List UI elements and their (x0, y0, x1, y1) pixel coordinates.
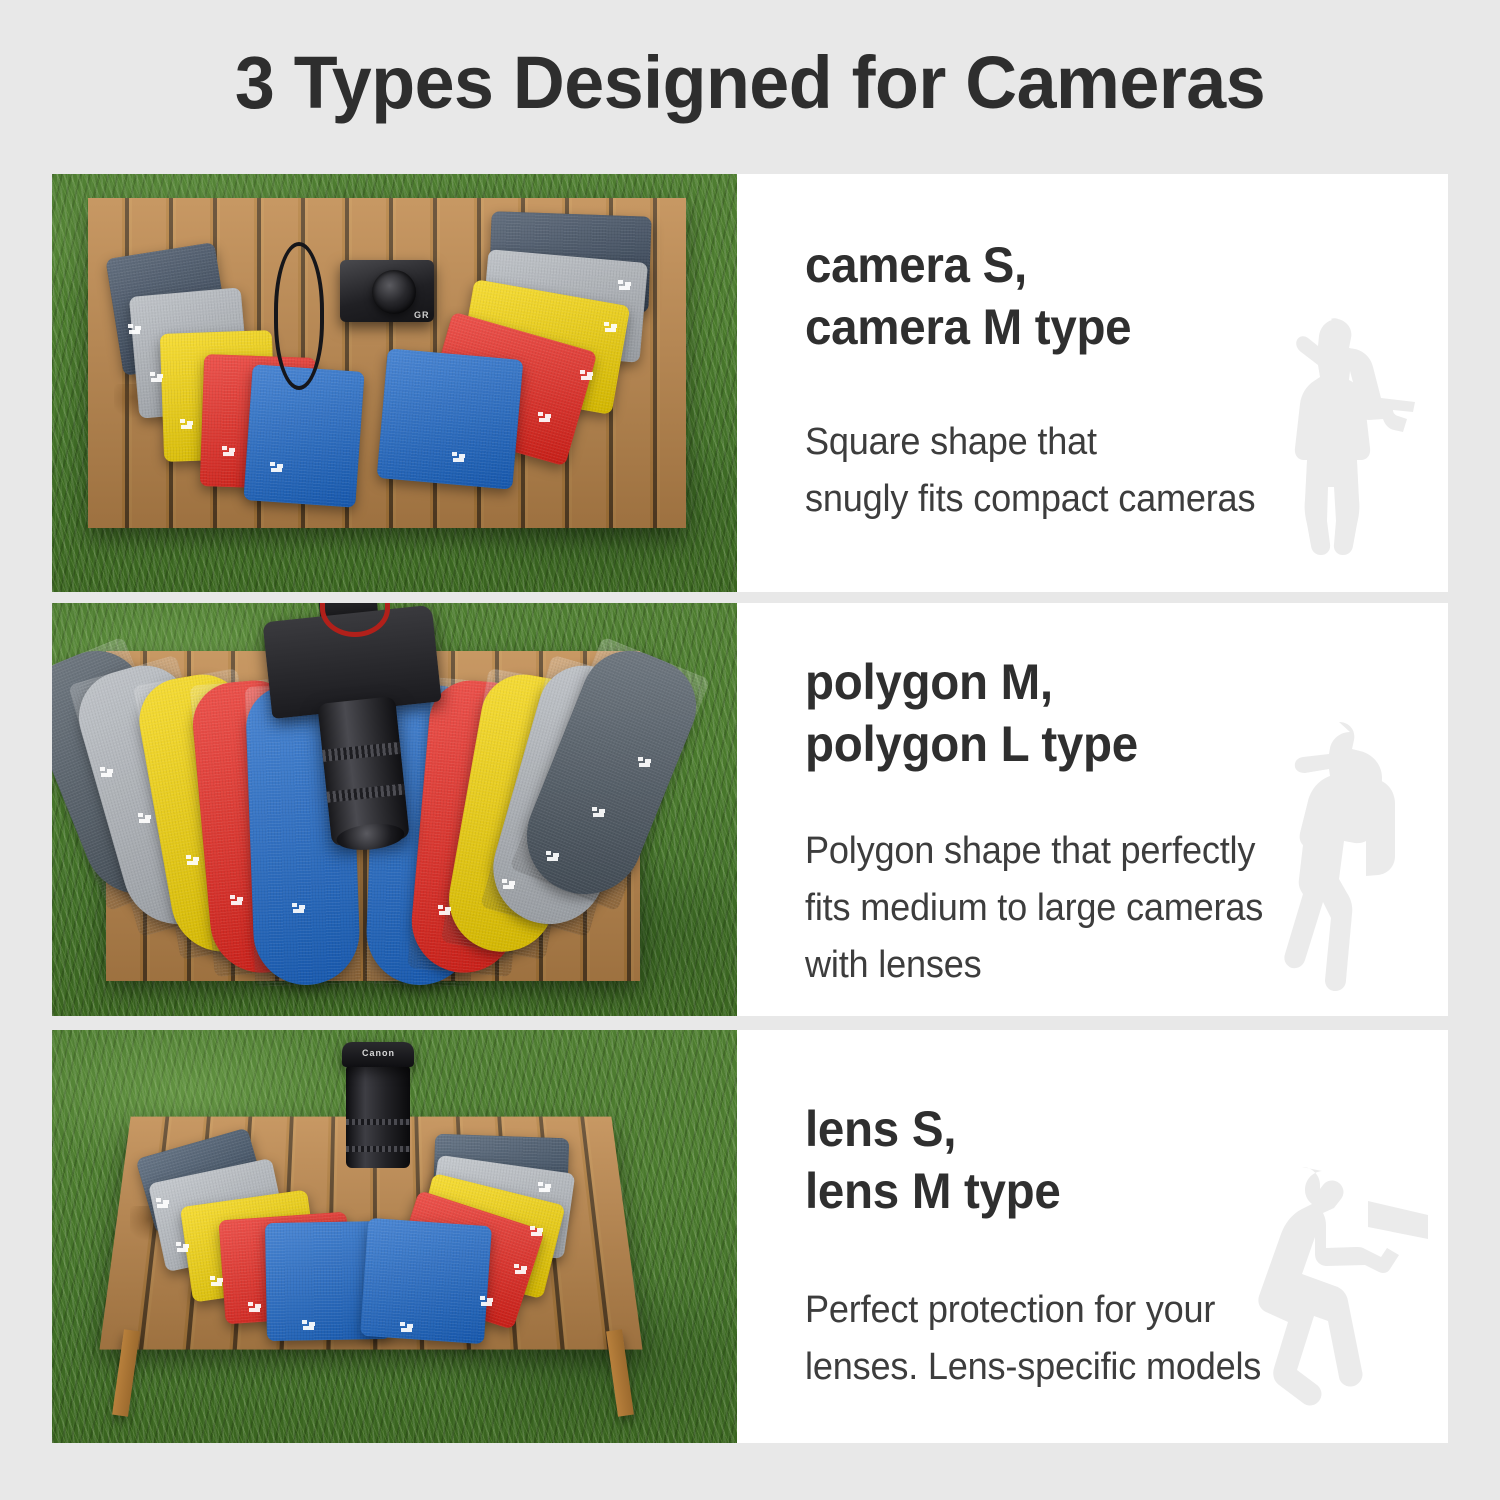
feature-heading: polygon M, polygon L type (805, 651, 1138, 775)
feature-text-polygon: polygon M, polygon L type Polygon shape … (737, 603, 1448, 1016)
brand-logo-icon (180, 419, 194, 430)
product-photo-camera-type: GR (52, 174, 737, 592)
brand-logo-icon (400, 1322, 414, 1333)
camera-lens-standing: Canon (342, 1042, 414, 1166)
camera-lens-barrel (317, 696, 410, 846)
product-photo-polygon-type (52, 603, 737, 1016)
brand-logo-icon (156, 1198, 170, 1209)
brand-logo-icon (538, 412, 552, 423)
feature-heading: camera S, camera M type (805, 234, 1131, 358)
brand-logo-icon (128, 324, 142, 335)
brand-logo-icon (100, 767, 114, 778)
brand-logo-icon (248, 1302, 262, 1313)
brand-logo-icon (618, 280, 632, 291)
brand-logo-icon (604, 322, 618, 333)
pouch-blue-right (377, 348, 524, 489)
brand-logo-icon (530, 1226, 544, 1237)
brand-logo-icon (138, 813, 152, 824)
brand-logo-icon (230, 895, 244, 906)
brand-logo-icon (176, 1242, 190, 1253)
lens-zoom-ring (346, 1146, 409, 1152)
brand-logo-icon (438, 905, 452, 916)
camera-model-badge: GR (414, 310, 430, 320)
camera-wrist-strap (274, 242, 324, 390)
page-title: 3 Types Designed for Cameras (23, 46, 1478, 120)
lens-barrel (346, 1064, 409, 1168)
brand-logo-icon (502, 879, 516, 890)
feature-row-camera: GR camera S, camera M type Square shape … (52, 174, 1448, 592)
brand-logo-icon (270, 462, 284, 473)
compact-camera-lens (372, 270, 416, 314)
brand-logo-icon (210, 1276, 224, 1287)
product-photo-lens-type: Canon (52, 1030, 737, 1443)
brand-logo-icon (514, 1264, 528, 1275)
lens-focus-ring (346, 1119, 409, 1125)
lens-brand-label: Canon (362, 1048, 395, 1058)
feature-heading: lens S, lens M type (805, 1098, 1061, 1222)
dslr-camera (262, 605, 455, 852)
feature-row-lens: Canon lens S, lens M type Perfect protec… (52, 1030, 1448, 1443)
pouch-blue-right (360, 1218, 492, 1344)
feature-text-camera: camera S, camera M type Square shape tha… (737, 174, 1448, 592)
brand-logo-icon (538, 1182, 552, 1193)
feature-description: Polygon shape that perfectly fits medium… (805, 823, 1263, 994)
brand-logo-icon (592, 807, 606, 818)
brand-logo-icon (638, 757, 652, 768)
infographic-page: 3 Types Designed for Cameras (0, 0, 1500, 1500)
brand-logo-icon (150, 372, 164, 383)
feature-row-polygon: polygon M, polygon L type Polygon shape … (52, 603, 1448, 1016)
hiker-with-backpack-silhouette (1254, 716, 1444, 1016)
feature-description: Square shape that snugly fits compact ca… (805, 414, 1255, 528)
brand-logo-icon (580, 370, 594, 381)
brand-logo-icon (546, 851, 560, 862)
brand-logo-icon (186, 855, 200, 866)
brand-logo-icon (292, 903, 306, 914)
feature-text-lens: lens S, lens M type Perfect protection f… (737, 1030, 1448, 1443)
brand-logo-icon (480, 1296, 494, 1307)
brand-logo-icon (452, 452, 466, 463)
brand-logo-icon (222, 446, 236, 457)
feature-description: Perfect protection for your lenses. Lens… (805, 1282, 1261, 1396)
brand-logo-icon (302, 1320, 316, 1331)
woman-photographer-standing-silhouette (1260, 292, 1440, 592)
